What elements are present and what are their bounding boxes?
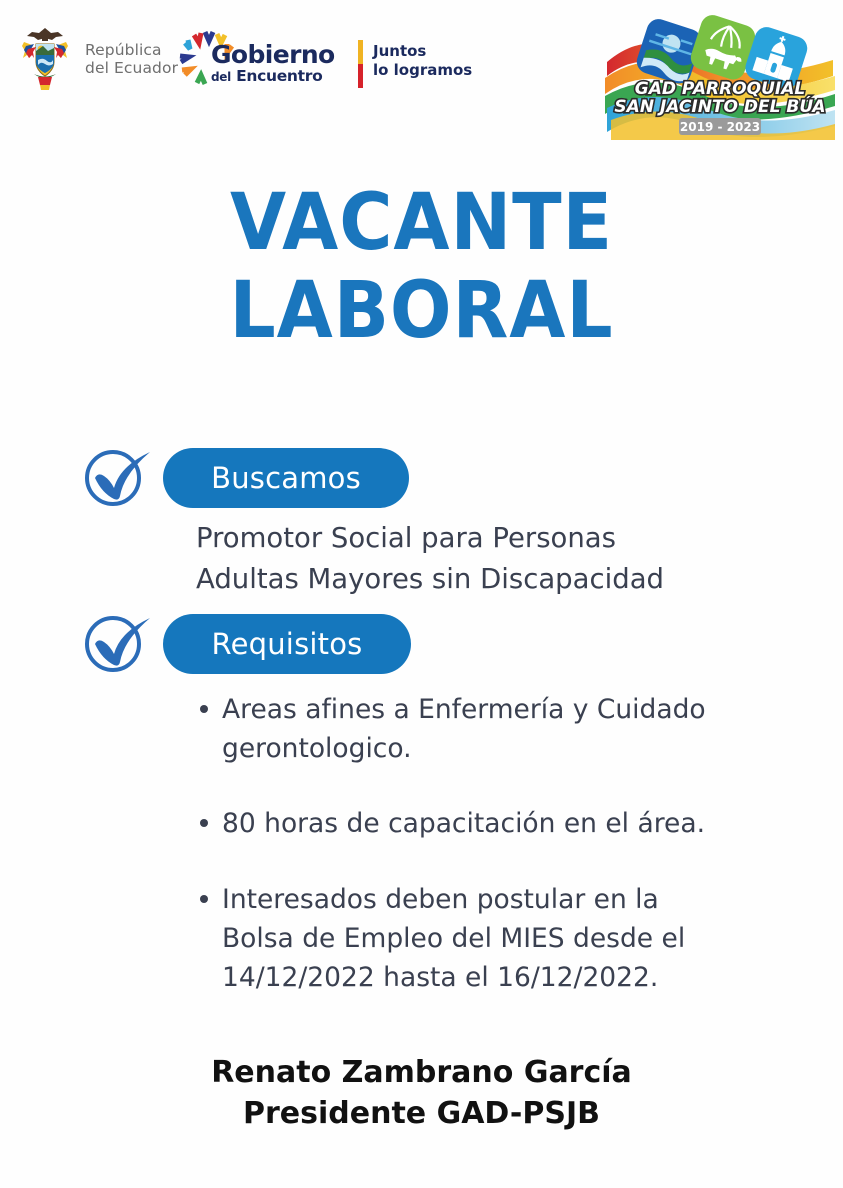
gad-years: 2019 - 2023	[680, 120, 760, 134]
republica-label: República del Ecuador	[85, 41, 178, 78]
section-buscamos: Buscamos Promotor Social para Personas A…	[0, 440, 843, 516]
gobierno-tagline: Juntos lo logramos	[373, 42, 472, 80]
bullet-3-line-1: Interesados deben postular en la	[222, 880, 836, 919]
signature-role: Presidente GAD-PSJB	[0, 1094, 843, 1135]
gobierno-del-encuentro-logo: Gobierno del Encuentro Juntos lo logramo…	[175, 26, 437, 98]
bullet-3-line-2: Bolsa de Empleo del MIES desde el	[222, 919, 836, 958]
vacancy-poster: República del Ecuador Gobierno	[0, 0, 843, 1188]
ecuador-coat-of-arms-icon	[14, 24, 76, 94]
encuentro-word: Encuentro	[236, 67, 322, 85]
buscamos-header: Buscamos	[0, 440, 843, 516]
check-circle-icon	[80, 608, 154, 678]
logo-divider	[358, 40, 363, 88]
poster-header: República del Ecuador Gobierno	[0, 0, 843, 150]
check-circle-icon	[80, 442, 154, 512]
requisitos-list: Areas afines a Enfermería y Cuidado gero…	[196, 690, 836, 997]
buscamos-body: Promotor Social para Personas Adultas Ma…	[196, 518, 816, 599]
signature-name: Renato Zambrano García	[0, 1053, 843, 1094]
title-line-laboral: LABORAL	[30, 274, 814, 350]
requisitos-header: Requisitos	[0, 606, 843, 682]
republica-line2: del Ecuador	[85, 59, 178, 77]
list-item: 80 horas de capacitación en el área.	[196, 804, 836, 843]
list-item: Areas afines a Enfermería y Cuidado gero…	[196, 690, 836, 768]
buscamos-body-line1: Promotor Social para Personas	[196, 518, 816, 559]
pill-buscamos[interactable]: Buscamos	[163, 448, 409, 508]
gad-name-line2: SAN JACINTO DEL BÚA	[614, 95, 825, 117]
republica-del-ecuador-logo: República del Ecuador	[14, 24, 179, 94]
pill-requisitos[interactable]: Requisitos	[163, 614, 411, 674]
tagline-line2: lo logramos	[373, 61, 472, 80]
buscamos-body-line2: Adultas Mayores sin Discapacidad	[196, 559, 816, 600]
bullet-2-line-1: 80 horas de capacitación en el área.	[222, 804, 836, 843]
gobierno-wordmark: Gobierno del Encuentro	[211, 42, 335, 85]
section-requisitos: Requisitos	[0, 606, 843, 682]
del-word: del	[211, 70, 231, 84]
republica-line1: República	[85, 41, 178, 59]
gad-parroquial-emblem-icon: GAD PARROQUIAL SAN JACINTO DEL BÚA 2019 …	[605, 2, 835, 142]
pill-buscamos-label: Buscamos	[211, 461, 361, 495]
gobierno-word: Gobierno	[211, 42, 335, 67]
tagline-line1: Juntos	[373, 42, 472, 61]
gad-name-line1: GAD PARROQUIAL	[635, 79, 805, 99]
pill-requisitos-label: Requisitos	[212, 627, 363, 661]
poster-title: VACANTE LABORAL	[0, 186, 843, 349]
del-encuentro-word: del Encuentro	[211, 68, 335, 85]
title-line-vacante: VACANTE	[30, 186, 814, 262]
list-item: Interesados deben postular en la Bolsa d…	[196, 880, 836, 998]
bullet-3-line-3: 14/12/2022 hasta el 16/12/2022.	[222, 958, 836, 997]
bullet-1-line-1: Areas afines a Enfermería y Cuidado	[222, 690, 836, 729]
signature-block: Renato Zambrano García Presidente GAD-PS…	[0, 1053, 843, 1135]
bullet-1-line-2: gerontologico.	[222, 729, 836, 768]
